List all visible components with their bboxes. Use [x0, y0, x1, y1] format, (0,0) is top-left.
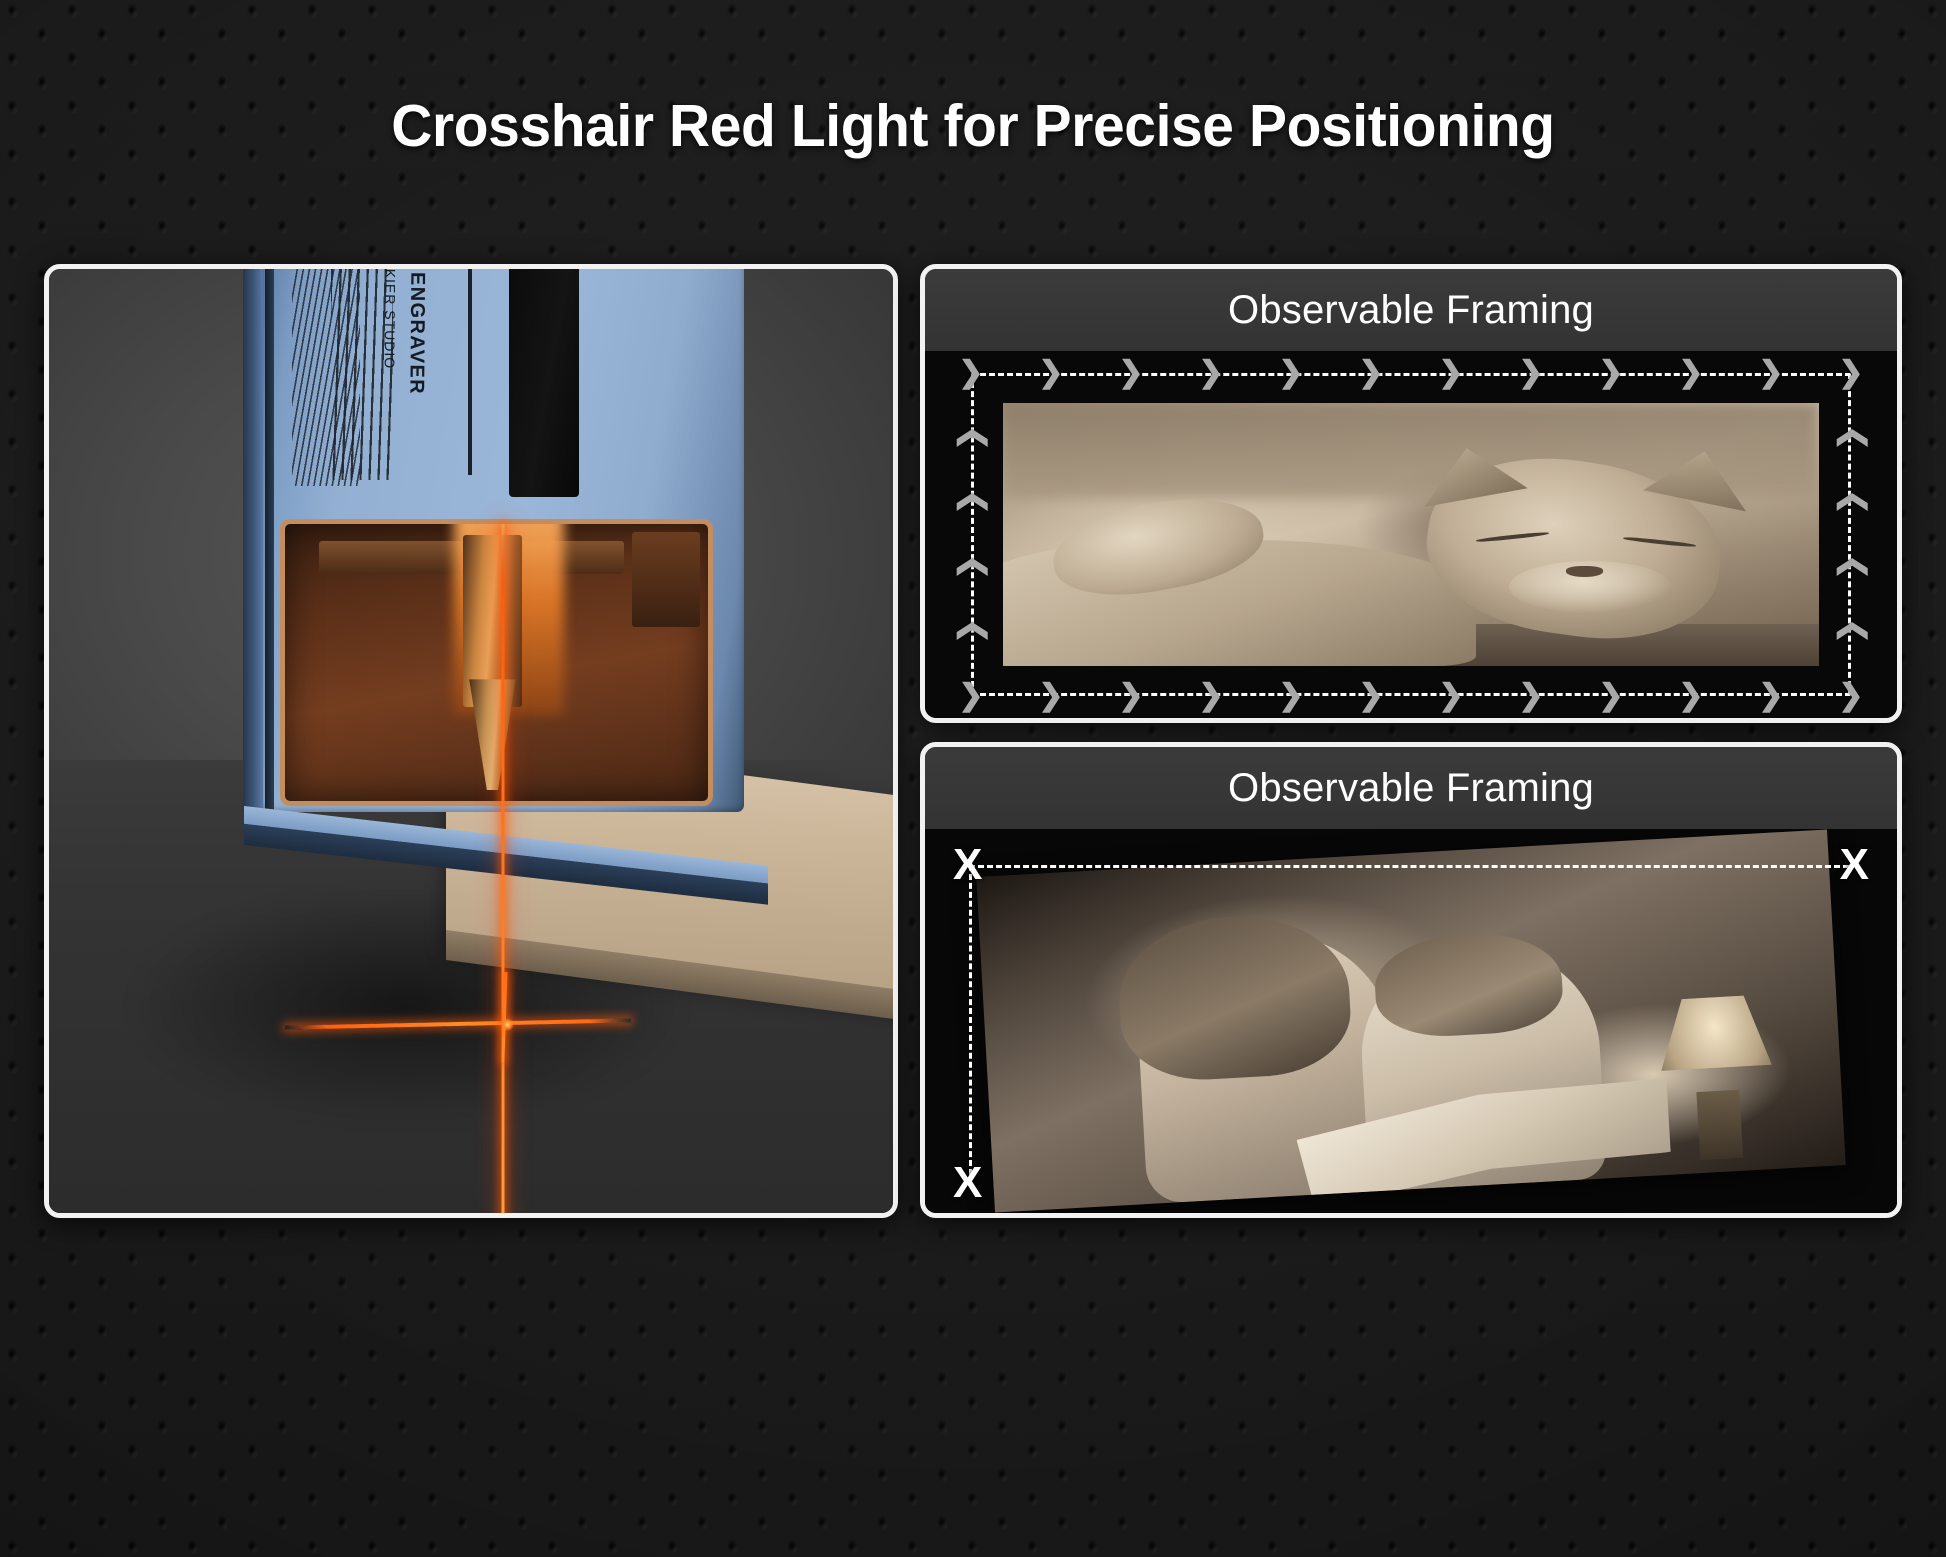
- module-brand-primary: R ENGRAVER: [406, 264, 429, 395]
- framing-chevron: ❯: [1276, 358, 1306, 388]
- framing-chevron: ❯: [1196, 681, 1226, 711]
- framing-chevron: ❯: [1756, 358, 1786, 388]
- framing-chevron: ❯: [956, 423, 986, 453]
- framing-chevron: ❯: [1836, 681, 1866, 711]
- module-brand-secondary: Y IKIER STUDIO: [382, 264, 399, 369]
- panel-body-top: ❯❯❯❯❯❯❯❯❯❯❯❯❯❯❯❯❯❯❯❯❯❯❯❯❯❯❯❯❯❯❯❯: [925, 351, 1897, 718]
- framing-chevron: ❯: [1756, 681, 1786, 711]
- framing-chevron: ❯: [1116, 681, 1146, 711]
- observable-framing-panel-top: Observable Framing ❯❯❯❯❯❯❯❯❯❯❯❯❯❯❯❯❯❯❯❯❯…: [920, 264, 1902, 723]
- framing-chevron: ❯: [1036, 681, 1066, 711]
- framing-chevron: ❯: [1676, 681, 1706, 711]
- panel-header-bottom: Observable Framing: [925, 747, 1897, 829]
- panel-body-bottom: X X X: [925, 829, 1897, 1213]
- window-right-block: [632, 532, 700, 626]
- product-feature-graphic: Crosshair Red Light for Precise Position…: [0, 0, 1946, 1557]
- corner-marker-top-left: X: [953, 843, 982, 887]
- framing-dashed-rectangle: [971, 373, 1851, 696]
- corner-marker-top-right: X: [1840, 843, 1869, 887]
- framing-chevron: ❯: [1116, 358, 1146, 388]
- framing-chevron: ❯: [1356, 358, 1386, 388]
- tilted-photo-stage: X X X: [925, 829, 1897, 1213]
- mother-hair: [1115, 910, 1354, 1084]
- module-brand-text: R ENGRAVER Y IKIER STUDIO: [376, 264, 431, 395]
- framing-chevron: ❯: [1596, 358, 1626, 388]
- laser-nozzle-cone: [469, 679, 516, 790]
- framing-chevron: ❯: [956, 681, 986, 711]
- crosshair-center-dot: [501, 1018, 514, 1031]
- corner-marker-bottom-left: X: [953, 1161, 982, 1205]
- observable-framing-panel-bottom: Observable Framing X X X: [920, 742, 1902, 1218]
- framing-chevron: ❯: [1196, 358, 1226, 388]
- framing-chevron: ❯: [1036, 358, 1066, 388]
- laser-beam: [502, 524, 505, 1218]
- framing-chevron: ❯: [956, 358, 986, 388]
- framing-guide-top: [969, 865, 1849, 868]
- panel-header-label-top: Observable Framing: [1228, 288, 1594, 333]
- framing-chevron: ❯: [956, 616, 986, 646]
- framing-chevron: ❯: [1436, 358, 1466, 388]
- module-amber-window: [280, 519, 713, 806]
- framing-chevron: ❯: [1836, 358, 1866, 388]
- page-title: Crosshair Red Light for Precise Position…: [34, 96, 1912, 158]
- lamp-base: [1697, 1090, 1743, 1159]
- module-divider-rule: [468, 264, 472, 475]
- framing-chevron: ❯: [1836, 616, 1866, 646]
- hero-scene: R ENGRAVER Y IKIER STUDIO: [49, 269, 893, 1213]
- framing-chevron: ❯: [1836, 487, 1866, 517]
- framing-guide-left: [969, 865, 972, 1175]
- framing-chevron: ❯: [956, 487, 986, 517]
- framing-chevron: ❯: [1436, 681, 1466, 711]
- framing-chevron: ❯: [1516, 358, 1546, 388]
- framing-chevron: ❯: [956, 552, 986, 582]
- framing-chevron: ❯: [1276, 681, 1306, 711]
- module-left-rail-inner: [265, 264, 274, 812]
- lamp-shade: [1657, 994, 1773, 1101]
- framing-chevron: ❯: [1836, 423, 1866, 453]
- framing-chevron: ❯: [1836, 552, 1866, 582]
- framing-chevron: ❯: [1676, 358, 1706, 388]
- hero-panel: R ENGRAVER Y IKIER STUDIO: [44, 264, 898, 1218]
- framing-chevron: ❯: [1356, 681, 1386, 711]
- panel-header-top: Observable Framing: [925, 269, 1897, 351]
- framing-chevron: ❯: [1596, 681, 1626, 711]
- module-top-slot: [509, 264, 579, 497]
- panel-header-label-bottom: Observable Framing: [1228, 766, 1594, 811]
- framing-chevron: ❯: [1516, 681, 1546, 711]
- family-photo: [976, 829, 1845, 1212]
